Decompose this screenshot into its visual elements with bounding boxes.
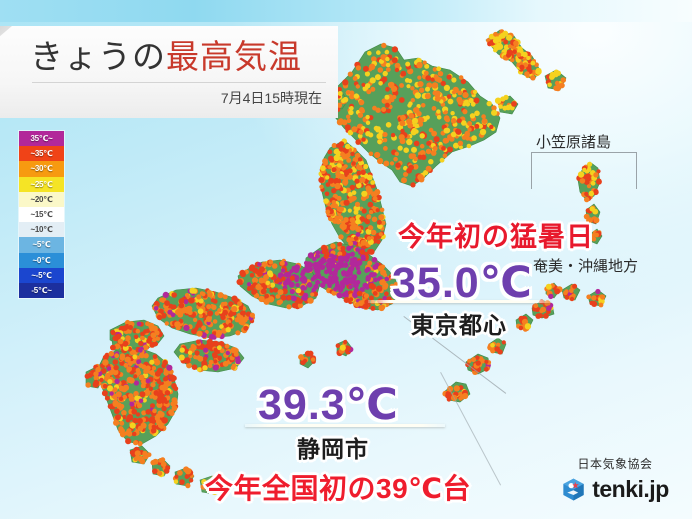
observation-dot [365, 115, 369, 119]
observation-dot [353, 241, 357, 245]
observation-dot [512, 49, 517, 54]
observation-dot [138, 348, 143, 353]
observation-dot [165, 465, 170, 470]
observation-dot [196, 294, 201, 299]
observation-dot [381, 107, 386, 112]
observation-dot [346, 90, 351, 95]
observation-dot [291, 296, 297, 302]
observation-dot [395, 152, 399, 156]
observation-dot [474, 124, 479, 129]
observation-dot [107, 385, 113, 391]
observation-dot [152, 338, 156, 342]
observation-dot [337, 292, 343, 298]
observation-dot [458, 91, 463, 96]
observation-dot [351, 161, 356, 166]
observation-dot [347, 253, 351, 257]
observation-dot [357, 270, 362, 275]
shizuoka-place-label: 静岡市 [297, 430, 369, 464]
observation-dot [361, 83, 365, 87]
observation-dot [165, 390, 171, 396]
ogasawara-bracket [531, 152, 637, 189]
observation-dot [196, 324, 201, 329]
observation-dot [359, 100, 365, 106]
title-divider [32, 82, 326, 83]
observation-dot [356, 84, 360, 88]
observation-dot [191, 345, 197, 351]
observation-dot [420, 144, 425, 149]
observation-dot [121, 386, 127, 392]
observation-dot [443, 154, 448, 159]
observation-dot [342, 79, 348, 85]
observation-dot [354, 179, 359, 184]
observation-dot [364, 269, 368, 273]
observation-dot [361, 170, 366, 175]
observation-dot [163, 377, 167, 381]
observation-dot [296, 288, 301, 293]
observation-dot [157, 368, 163, 374]
observation-dot [140, 332, 145, 337]
observation-dot [382, 132, 387, 137]
observation-dot [93, 380, 99, 386]
observation-dot [398, 146, 403, 151]
observation-dot [342, 272, 347, 277]
observation-dot [189, 478, 193, 482]
observation-dot [392, 57, 398, 63]
observation-dot [429, 128, 434, 133]
observation-dot [506, 53, 511, 58]
observation-dot [535, 69, 541, 75]
observation-dot [584, 192, 588, 196]
observation-dot [391, 86, 397, 92]
observation-dot [386, 63, 391, 68]
observation-dot [399, 83, 404, 88]
observation-dot [535, 313, 541, 319]
observation-dot [391, 133, 395, 137]
observation-dot [304, 261, 308, 265]
observation-dot [360, 109, 365, 114]
observation-dot [305, 352, 310, 357]
observation-dot [281, 268, 285, 272]
observation-dot [458, 141, 463, 146]
observation-dot [386, 67, 391, 72]
observation-dot [159, 385, 165, 391]
observation-dot [382, 76, 388, 82]
observation-dot [286, 304, 291, 309]
observation-dot [180, 347, 185, 352]
observation-dot [337, 163, 341, 167]
observation-dot [85, 374, 90, 379]
observation-dot [275, 279, 280, 284]
observation-dot [331, 167, 336, 172]
observation-dot [114, 353, 119, 358]
observation-dot [444, 128, 450, 134]
observation-dot [590, 206, 595, 211]
observation-dot [153, 459, 159, 465]
observation-dot [148, 323, 154, 329]
observation-dot [340, 345, 346, 351]
observation-dot [448, 99, 454, 105]
observation-dot [207, 310, 213, 316]
observation-dot [286, 295, 291, 300]
observation-dot [490, 343, 495, 348]
observation-dot [324, 270, 329, 275]
observation-dot [408, 79, 412, 83]
observation-dot [516, 52, 521, 57]
observation-dot [363, 164, 368, 169]
observation-dot [424, 71, 429, 76]
observation-dot [269, 289, 273, 293]
observation-dot [350, 225, 356, 231]
observation-dot [380, 208, 385, 213]
observation-dot [264, 299, 270, 305]
observation-dot [348, 72, 353, 77]
observation-dot [385, 57, 389, 61]
observation-dot [155, 301, 159, 305]
observation-dot [152, 366, 156, 370]
observation-dot [171, 312, 176, 317]
observation-dot [362, 208, 367, 213]
observation-dot [139, 391, 145, 397]
observation-dot [383, 71, 388, 76]
observation-dot [105, 396, 110, 401]
observation-dot [444, 110, 448, 114]
observation-dot [159, 298, 164, 303]
observation-dot [383, 146, 388, 151]
tokyo-place-label: 東京都心 [411, 306, 507, 340]
observation-dot [119, 397, 123, 401]
observation-dot [240, 311, 245, 316]
observation-dot [320, 165, 326, 171]
observation-dot [177, 470, 183, 476]
observation-dot [347, 168, 352, 173]
observation-dot [337, 119, 343, 125]
observation-dot [484, 367, 489, 372]
observation-dot [303, 268, 307, 272]
observation-dot [372, 217, 378, 223]
national-first-banner: 今年全国初の39℃台 [205, 467, 471, 507]
observation-dot [174, 321, 180, 327]
logo-row: tenki.jp [545, 476, 685, 503]
observation-dot [206, 316, 212, 322]
observation-dot [335, 171, 340, 176]
observation-dot [494, 346, 500, 352]
observation-dot [225, 344, 230, 349]
observation-dot [201, 292, 206, 297]
observation-dot [410, 86, 414, 90]
observation-dot [115, 334, 120, 339]
observation-dot [572, 284, 577, 289]
observation-dot [399, 97, 405, 103]
observation-dot [471, 357, 476, 362]
observation-dot [434, 136, 440, 142]
observation-dot [113, 365, 118, 370]
observation-dot [347, 119, 352, 124]
observation-dot [278, 289, 284, 295]
observation-dot [425, 87, 430, 92]
observation-dot [107, 379, 112, 384]
observation-dot [369, 210, 373, 214]
observation-dot [411, 98, 415, 102]
observation-dot [250, 313, 255, 318]
observation-dot [349, 196, 354, 201]
observation-dot [447, 147, 453, 153]
observation-dot [336, 144, 340, 148]
observation-dot [433, 146, 438, 151]
observation-dot [223, 302, 227, 306]
observation-dot [348, 285, 353, 290]
observation-dot [375, 262, 379, 266]
observation-dot [149, 387, 153, 391]
observation-dot [255, 284, 261, 290]
observation-dot [360, 177, 366, 183]
observation-dot [300, 285, 306, 291]
observation-dot [426, 166, 432, 172]
observation-dot [419, 117, 424, 122]
observation-dot [327, 283, 332, 288]
observation-dot [325, 175, 329, 179]
observation-dot [432, 106, 437, 111]
observation-dot [353, 282, 359, 288]
observation-dot [407, 103, 411, 107]
observation-dot [273, 287, 278, 292]
observation-dot [447, 74, 452, 79]
observation-dot [357, 171, 362, 176]
observation-dot [346, 237, 351, 242]
observation-dot [154, 330, 159, 335]
observation-dot [179, 479, 185, 485]
observation-dot [385, 87, 390, 92]
observation-dot [162, 360, 168, 366]
observation-dot [85, 382, 91, 388]
observation-dot [192, 364, 198, 370]
observation-dot [253, 268, 258, 273]
observation-dot [381, 265, 386, 270]
observation-dot [471, 102, 476, 107]
observation-dot [369, 249, 375, 255]
observation-dot [467, 127, 471, 131]
observation-dot [161, 461, 167, 467]
observation-dot [503, 40, 508, 45]
observation-dot [109, 351, 115, 357]
observation-dot [350, 258, 355, 263]
observation-dot [354, 236, 359, 241]
title-plain: きょうの [30, 38, 166, 75]
observation-dot [506, 35, 512, 41]
observation-dot [525, 323, 531, 329]
observation-dot [432, 82, 438, 88]
observation-dot [399, 120, 405, 126]
observation-dot [418, 155, 423, 160]
observation-dot [436, 109, 440, 113]
observation-dot [417, 76, 421, 80]
observation-dot [462, 92, 468, 98]
observation-dot [480, 129, 486, 135]
observation-dot [126, 428, 131, 433]
observation-dot [493, 32, 498, 37]
observation-dot [531, 61, 536, 66]
observation-dot [331, 259, 336, 264]
legend-band-5: ~15℃ [19, 207, 64, 222]
observation-dot [143, 353, 148, 358]
observation-dot [320, 276, 325, 281]
observation-dot [154, 306, 159, 311]
observation-dot [530, 75, 535, 80]
observation-dot [375, 74, 381, 80]
observation-dot [550, 72, 556, 78]
observation-dot [338, 286, 344, 292]
observation-dot [207, 339, 213, 345]
observation-dot [116, 391, 122, 397]
observation-dot [570, 297, 574, 301]
observation-dot [426, 141, 431, 146]
observation-dot [344, 200, 350, 206]
observation-dot [349, 297, 353, 301]
observation-dot [502, 106, 507, 111]
observation-dot [114, 379, 119, 384]
observation-dot [399, 134, 405, 140]
tokyo-temperature-value: 35.0℃ [392, 258, 533, 308]
observation-dot [337, 242, 341, 246]
observation-dot [383, 138, 387, 142]
observation-dot [184, 357, 190, 363]
amami-okinawa-label: 奄美・沖縄地方 [533, 255, 638, 276]
observation-dot [113, 387, 118, 392]
observation-dot [569, 288, 574, 293]
observation-dot [313, 284, 318, 289]
observation-dot [462, 135, 467, 140]
observation-dot [141, 365, 146, 370]
observation-dot [128, 325, 133, 330]
observation-dot [450, 111, 454, 115]
observation-dot [234, 352, 239, 357]
temperature-legend: 35℃~~35℃~30℃~25℃~20℃~15℃~10℃~5℃~0℃~-5℃-5… [18, 130, 65, 299]
observation-dot [419, 88, 424, 93]
observation-dot [179, 355, 185, 361]
observation-dot [328, 178, 334, 184]
observation-dot [421, 103, 426, 108]
observation-dot [383, 283, 389, 289]
observation-dot [366, 214, 371, 219]
observation-dot [207, 290, 212, 295]
observation-dot [338, 260, 343, 265]
observation-dot [122, 415, 126, 419]
observation-dot [295, 278, 299, 282]
observation-dot [102, 390, 108, 396]
observation-dot [435, 76, 441, 82]
organization-label: 日本気象協会 [545, 455, 685, 472]
observation-dot [218, 292, 224, 298]
observation-dot [343, 340, 347, 344]
observation-dot [126, 418, 131, 423]
observation-dot [264, 294, 269, 299]
observation-dot [444, 115, 450, 121]
observation-dot [188, 297, 194, 303]
tenki-cube-icon [561, 477, 586, 502]
observation-dot [593, 189, 598, 194]
observation-dot [172, 400, 178, 406]
observation-dot [203, 348, 208, 353]
observation-dot [135, 455, 140, 460]
shizuoka-temperature-value: 39.3℃ [258, 380, 399, 430]
observation-dot [378, 67, 384, 73]
observation-dot [455, 129, 460, 134]
observation-dot [328, 275, 332, 279]
observation-dot [445, 393, 451, 399]
legend-band-2: ~30℃ [19, 161, 64, 176]
observation-dot [247, 282, 251, 286]
observation-dot [385, 277, 390, 282]
observation-dot [250, 273, 255, 278]
observation-dot [351, 126, 357, 132]
observation-dot [226, 327, 231, 332]
observation-dot [122, 325, 128, 331]
observation-dot [175, 309, 181, 315]
observation-dot [99, 378, 103, 382]
legend-band-3: ~25℃ [19, 177, 64, 192]
observation-dot [222, 310, 228, 316]
observation-dot [333, 270, 338, 275]
page-title: きょうの最高気温 [30, 30, 328, 78]
observation-dot [323, 160, 328, 165]
observation-dot [290, 289, 295, 294]
observation-dot [464, 100, 469, 105]
observation-dot [188, 351, 192, 355]
observation-dot [377, 158, 383, 164]
observation-dot [431, 150, 437, 156]
observation-dot [336, 343, 341, 348]
observation-dot [471, 135, 477, 141]
observation-dot [400, 115, 406, 121]
observation-dot [141, 336, 145, 340]
observation-dot [414, 141, 420, 147]
observation-dot [171, 292, 177, 298]
observation-dot [216, 330, 222, 336]
observation-dot [331, 204, 335, 208]
observation-dot [325, 210, 330, 215]
observation-dot [164, 300, 170, 306]
observation-dot [132, 355, 137, 360]
observation-dot [540, 307, 546, 313]
observation-dot [565, 295, 570, 300]
observation-dot [423, 61, 427, 65]
observation-dot [341, 246, 346, 251]
observation-dot [357, 291, 363, 297]
observation-dot [148, 418, 153, 423]
observation-dot [405, 62, 410, 67]
observation-dot [109, 391, 113, 395]
observation-dot [365, 71, 370, 76]
observation-dot [370, 273, 375, 278]
observation-dot [366, 89, 371, 94]
observation-dot [185, 468, 191, 474]
observation-dot [410, 182, 415, 187]
observation-dot [370, 77, 376, 83]
observation-dot [160, 413, 165, 418]
title-highlight: 最高気温 [166, 38, 302, 75]
observation-dot [228, 323, 233, 328]
observation-dot [328, 150, 333, 155]
observation-dot [150, 382, 155, 387]
observation-dot [400, 71, 406, 77]
observation-dot [268, 272, 273, 277]
observation-dot [413, 107, 419, 113]
observation-dot [280, 261, 285, 266]
observation-dot [130, 423, 136, 429]
observation-dot [223, 361, 229, 367]
title-card: きょうの最高気温 7月4日15時現在 [0, 26, 338, 118]
observation-dot [543, 313, 549, 319]
observation-dot [546, 305, 552, 311]
